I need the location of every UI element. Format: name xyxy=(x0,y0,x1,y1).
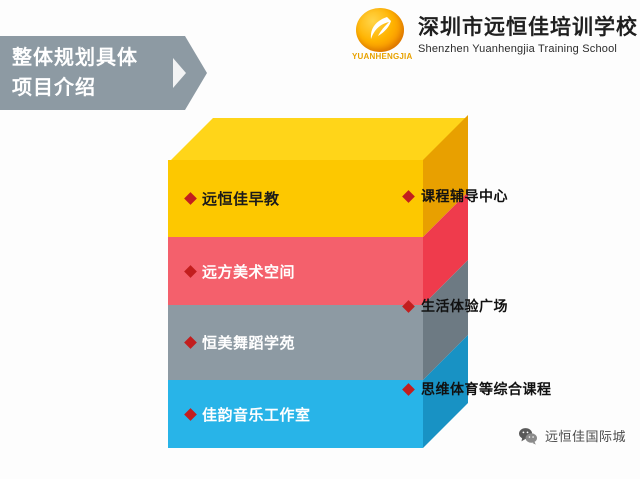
page-title-line2: 项目介绍 xyxy=(12,73,138,103)
page-title: 整体规划具体 项目介绍 xyxy=(12,43,138,103)
layer-1-label-group: 远恒佳早教 xyxy=(168,188,280,209)
diamond-bullet-icon xyxy=(402,383,415,396)
callout-2-label: 生活体验广场 xyxy=(421,296,508,316)
callout-2[interactable]: 生活体验广场 xyxy=(404,296,508,316)
layer-1-label: 远恒佳早教 xyxy=(202,188,280,209)
diagram-layer-2[interactable]: 远方美术空间 xyxy=(168,237,423,305)
layer-4-label-group: 佳韵音乐工作室 xyxy=(168,404,311,425)
flame-swoosh-icon xyxy=(365,15,395,45)
diamond-bullet-icon xyxy=(184,408,197,421)
diagram-layer-3[interactable]: 恒美舞蹈学苑 xyxy=(168,305,423,380)
diagram-layer-4[interactable]: 佳韵音乐工作室 xyxy=(168,380,423,448)
wechat-icon xyxy=(518,427,538,445)
diamond-bullet-icon xyxy=(184,192,197,205)
callout-1[interactable]: 课程辅导中心 xyxy=(404,186,508,206)
diamond-bullet-icon xyxy=(402,190,415,203)
diamond-bullet-icon xyxy=(184,336,197,349)
diamond-bullet-icon xyxy=(184,265,197,278)
school-name-cn: 深圳市远恒佳培训学校 xyxy=(418,15,638,41)
layer-3-label-group: 恒美舞蹈学苑 xyxy=(168,332,295,353)
banner-notch xyxy=(173,58,186,88)
brand-logo-text: YUANHENGJIA xyxy=(352,52,408,61)
layer-4-label: 佳韵音乐工作室 xyxy=(202,404,311,425)
footer-wechat[interactable]: 远恒佳国际城 xyxy=(518,426,626,445)
layer-3-label: 恒美舞蹈学苑 xyxy=(202,332,295,353)
brand-header: YUANHENGJIA 深圳市远恒佳培训学校 Shenzhen Yuanheng… xyxy=(352,8,638,64)
slide-canvas: YUANHENGJIA 深圳市远恒佳培训学校 Shenzhen Yuanheng… xyxy=(0,0,640,479)
diagram-layer-1[interactable]: 远恒佳早教 xyxy=(168,160,423,237)
layer-2-label: 远方美术空间 xyxy=(202,261,295,282)
banner-tail xyxy=(185,36,207,110)
brand-names: 深圳市远恒佳培训学校 Shenzhen Yuanhengjia Training… xyxy=(418,15,638,57)
callout-3-label: 思维体育等综合课程 xyxy=(421,379,552,399)
diamond-bullet-icon xyxy=(402,300,415,313)
callout-3[interactable]: 思维体育等综合课程 xyxy=(404,379,552,399)
brand-logo: YUANHENGJIA xyxy=(352,8,408,64)
title-banner: 整体规划具体 项目介绍 xyxy=(0,36,185,110)
footer-label: 远恒佳国际城 xyxy=(545,426,626,445)
school-name-en: Shenzhen Yuanhengjia Training School xyxy=(418,41,638,57)
callout-1-label: 课程辅导中心 xyxy=(421,186,508,206)
layer-2-label-group: 远方美术空间 xyxy=(168,261,295,282)
page-title-line1: 整体规划具体 xyxy=(12,43,138,73)
